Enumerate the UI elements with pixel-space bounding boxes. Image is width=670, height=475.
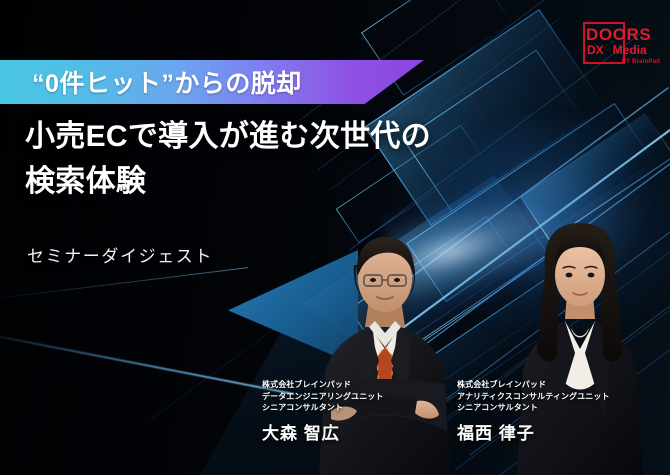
speaker-caption-male: 株式会社ブレインパッド データエンジニアリングユニット シニアコンサルタント 大… xyxy=(262,379,384,444)
headline-banner: “0件ヒット”からの脱却 xyxy=(0,60,424,104)
headline-banner-label: “0件ヒット”からの脱却 xyxy=(32,64,302,100)
page-subtitle: セミナーダイジェスト xyxy=(27,242,213,267)
logo-dx-text: DX xyxy=(587,43,604,57)
logo-by-brainpad-text: BY BrainPad xyxy=(622,59,660,65)
speaker-company: 株式会社ブレインパッド xyxy=(457,379,610,391)
speaker-unit: データエンジニアリングユニット xyxy=(262,391,384,403)
page-title: 小売ECで導入が進む次世代の 検索体験 xyxy=(25,114,455,204)
speaker-role: シニアコンサルタント xyxy=(457,402,610,414)
speaker-name: 大森 智広 xyxy=(262,419,384,444)
doors-dx-media-logo[interactable]: DOORS DXMedia BY BrainPad xyxy=(574,22,662,68)
speaker-role: シニアコンサルタント xyxy=(262,402,384,414)
page-title-line-1: 小売ECで導入が進む次世代の xyxy=(25,114,455,159)
seminar-digest-slide: “0件ヒット”からの脱却 小売ECで導入が進む次世代の 検索体験 セミナーダイジ… xyxy=(0,0,670,475)
speaker-caption-female: 株式会社ブレインパッド アナリティクスコンサルティングユニット シニアコンサルタ… xyxy=(457,379,610,444)
logo-media-text: Media xyxy=(613,43,647,57)
speaker-company: 株式会社ブレインパッド xyxy=(262,379,384,391)
logo-doors-text: DOORS xyxy=(586,26,651,43)
page-title-line-2: 検索体験 xyxy=(25,159,455,204)
logo-dx-media-text: DXMedia xyxy=(587,44,647,57)
speaker-unit: アナリティクスコンサルティングユニット xyxy=(457,391,610,403)
speaker-name: 福西 律子 xyxy=(457,419,610,444)
